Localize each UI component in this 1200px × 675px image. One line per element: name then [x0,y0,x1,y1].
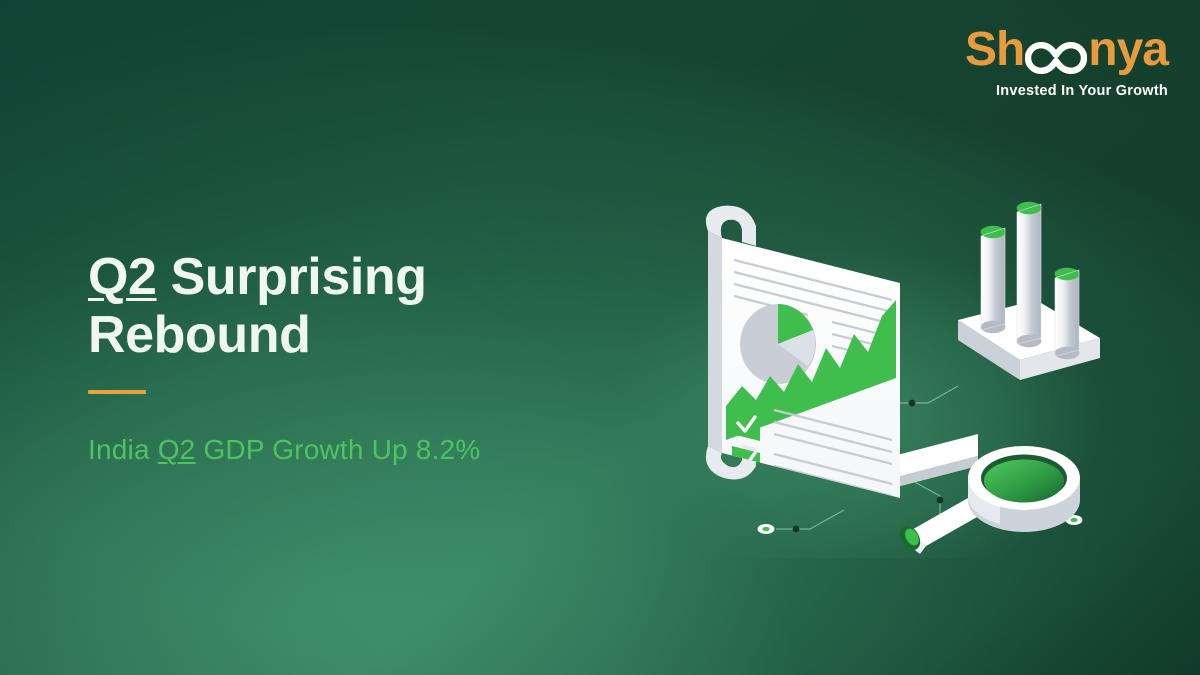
infinity-icon [1025,36,1087,70]
subtitle-quarter-label: Q2 [158,434,196,465]
headline-line2: Rebound [88,306,311,364]
bar-cylinder-3 [1055,268,1080,359]
pie-chart [740,304,816,384]
accent-divider [88,390,146,394]
banner-canvas: Sh nya Invested In Your Growth Q2 Surpri… [0,0,1200,675]
subtitle-prefix: India [88,434,158,465]
logo-wordmark: Sh nya [965,26,1168,74]
headline-quarter-label: Q2 [88,248,157,306]
headline-block: Q2 Surprising Rebound India Q2 GDP Growt… [88,248,728,467]
subtitle: India Q2 GDP Growth Up 8.2% [88,433,728,467]
brand-logo[interactable]: Sh nya Invested In Your Growth [965,26,1168,99]
headline-line1-rest: Surprising [157,248,427,306]
bar-cylinder-2 [1017,202,1042,347]
bar-cylinder-1 [981,226,1006,333]
subtitle-suffix: GDP Growth Up 8.2% [195,434,480,465]
page-title: Q2 Surprising Rebound [88,248,728,364]
logo-prefix: Sh [965,26,1024,74]
logo-suffix: nya [1088,26,1168,74]
brand-tagline: Invested In Your Growth [965,83,1168,99]
